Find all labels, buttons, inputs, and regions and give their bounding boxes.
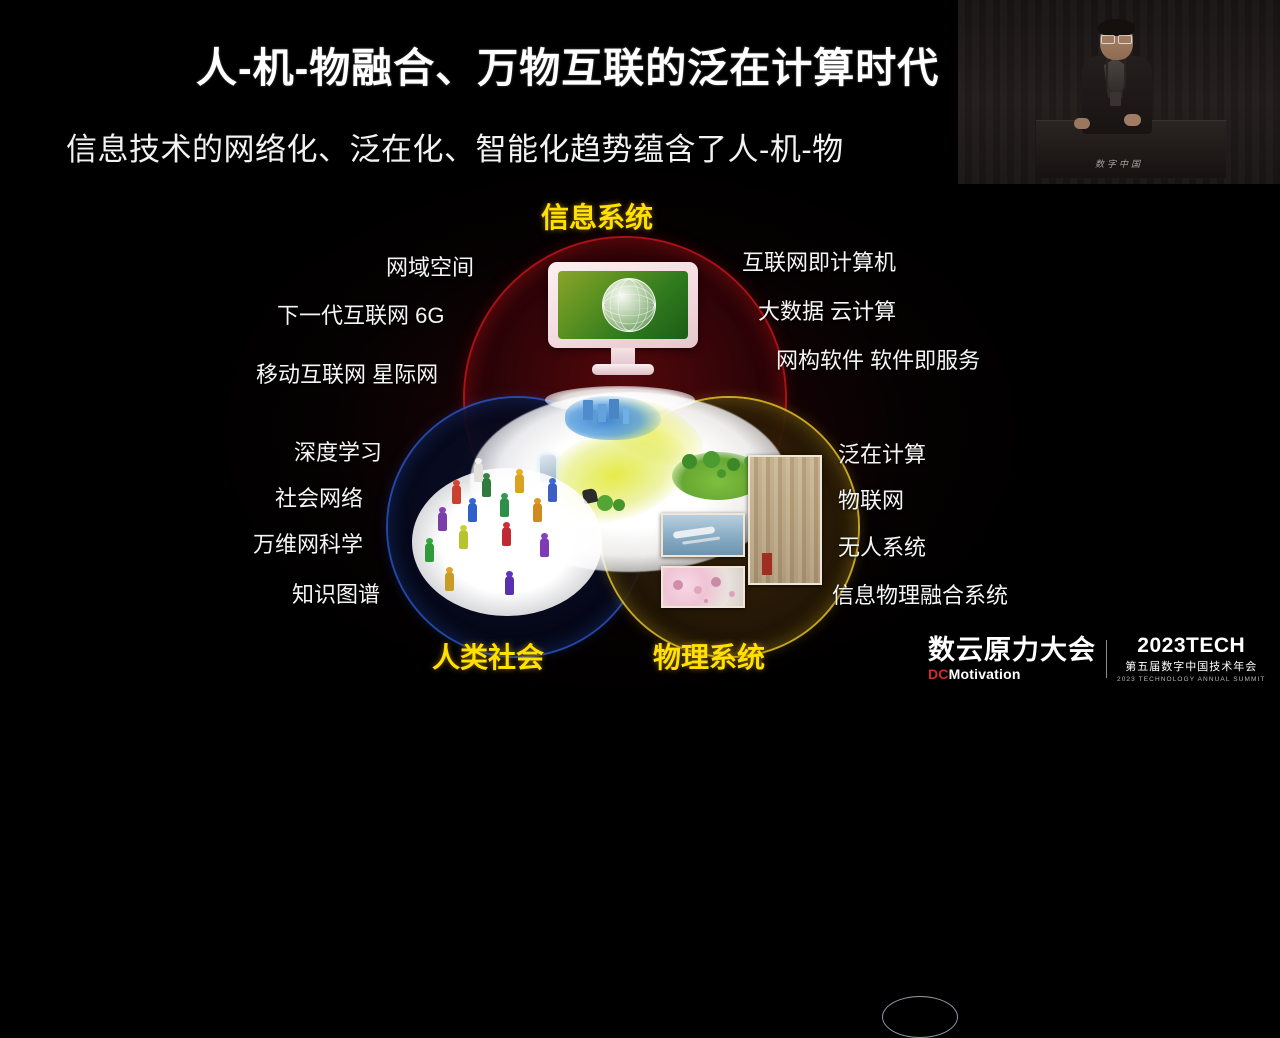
tag-top-left-3: 移动互联网 星际网 — [256, 357, 438, 389]
person-figure — [459, 530, 468, 549]
monitor-base — [592, 364, 654, 375]
monitor-illustration — [548, 262, 698, 382]
photo-airplane — [661, 513, 745, 557]
person-figure — [468, 503, 477, 522]
logo-secondary: 2023TECH 第五届数字中国技术年会 2023 TECHNOLOGY ANN… — [1117, 635, 1265, 683]
speaker-right-hand — [1124, 114, 1141, 126]
venn-label-human-society: 人类社会 — [432, 636, 544, 676]
person-figure — [502, 527, 511, 546]
person-figure — [533, 503, 542, 522]
globe-gridlines — [603, 279, 655, 331]
tag-bottom-right-2: 物联网 — [838, 483, 904, 515]
tag-bottom-right-4: 信息物理融合系统 — [832, 578, 1008, 610]
speaker-badge — [1110, 92, 1121, 106]
globe-icon — [602, 278, 656, 332]
venn-label-information-system: 信息系统 — [541, 196, 653, 236]
person-figure — [474, 463, 483, 482]
speaker-lanyard — [1106, 58, 1126, 92]
tag-bottom-left-4: 知识图谱 — [292, 577, 380, 609]
person-figure — [505, 576, 514, 595]
logo-dc-text: DC — [928, 666, 949, 682]
logo-year-text: 2023TECH — [1137, 635, 1245, 656]
tag-bottom-left-1: 深度学习 — [294, 435, 382, 467]
podium-caption: 数字中国 — [958, 157, 1280, 170]
speaker-video-overlay[interactable]: 数字中国 — [958, 0, 1280, 184]
photo-cells — [661, 566, 745, 608]
person-figure — [500, 498, 509, 517]
tag-top-right-1: 互联网即计算机 — [742, 245, 896, 277]
blue-city-illustration — [565, 396, 661, 440]
logo-divider — [1106, 640, 1107, 678]
logo-primary: 数云原力大会 DCMotivation — [928, 636, 1096, 681]
person-figure — [445, 572, 454, 591]
logo-subtitle-cn: 第五届数字中国技术年会 — [1125, 658, 1257, 674]
venn-label-physical-system: 物理系统 — [653, 636, 765, 676]
tag-bottom-right-1: 泛在计算 — [838, 437, 926, 469]
tag-bottom-left-3: 万维网科学 — [253, 527, 363, 559]
person-figure — [425, 543, 434, 562]
person-figure — [452, 485, 461, 504]
tag-top-left-2: 下一代互联网 6G — [277, 298, 444, 330]
logo-subtitle-en: 2023 TECHNOLOGY ANNUAL SUMMIT — [1117, 676, 1265, 683]
person-figure — [548, 483, 557, 502]
tag-top-right-3: 网构软件 软件即服务 — [776, 343, 980, 375]
tag-top-right-2: 大数据 云计算 — [758, 294, 896, 326]
person-figure — [438, 512, 447, 531]
logo-motivation-text: Motivation — [949, 666, 1021, 682]
monitor-bezel — [548, 262, 698, 348]
person-figure — [515, 474, 524, 493]
tag-bottom-right-3: 无人系统 — [838, 530, 926, 562]
speaker-hair — [1098, 19, 1135, 36]
speaker-figure — [1076, 22, 1156, 132]
people-network-ring — [882, 996, 958, 1038]
tag-top-left-1: 网域空间 — [386, 250, 474, 282]
monitor-screen — [558, 271, 688, 339]
conference-logo: 数云原力大会 DCMotivation 2023TECH 第五届数字中国技术年会… — [928, 630, 1265, 688]
person-figure — [482, 478, 491, 497]
speaker-left-hand — [1074, 118, 1090, 129]
tag-bottom-left-2: 社会网络 — [275, 481, 363, 513]
glasses-icon — [1101, 35, 1132, 42]
person-figure — [540, 538, 549, 557]
photo-skyscraper — [748, 455, 822, 585]
logo-english-name: DCMotivation — [928, 666, 1096, 682]
logo-chinese-name: 数云原力大会 — [928, 636, 1096, 664]
